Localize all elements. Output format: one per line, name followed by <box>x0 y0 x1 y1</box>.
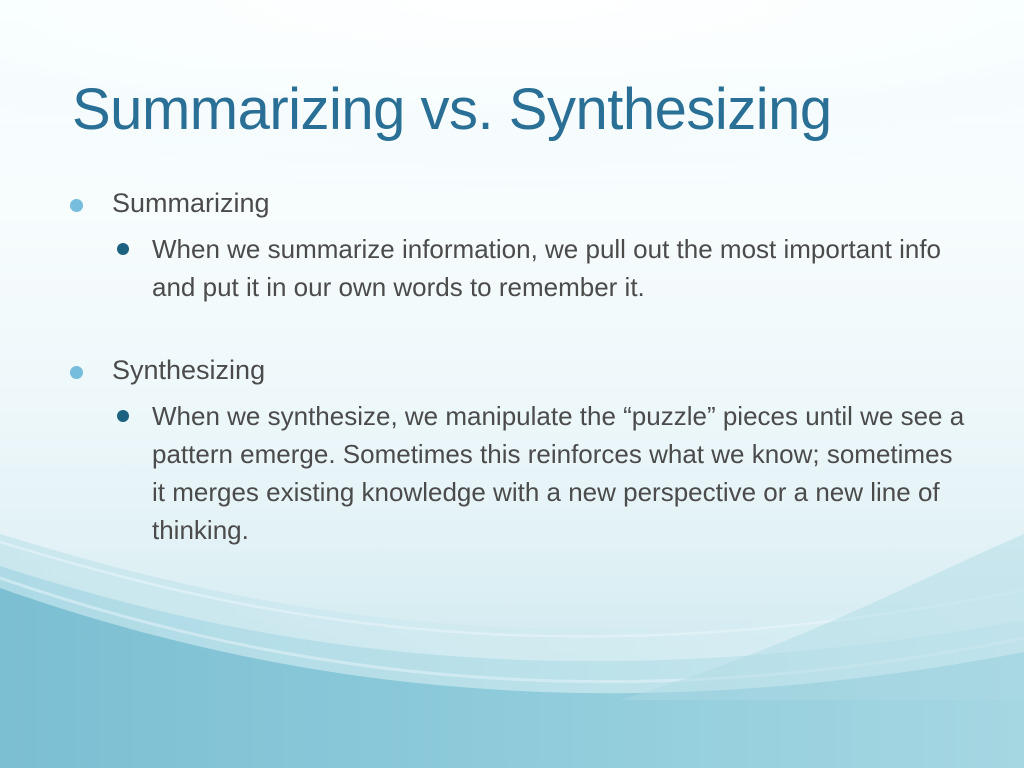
bullet-level2-label: When we synthesize, we manipulate the “p… <box>152 401 964 546</box>
filled-circle-bullet-icon <box>117 243 129 255</box>
presentation-slide: Summarizing vs. Synthesizing Summarizing… <box>0 0 1024 768</box>
filled-circle-bullet-icon <box>70 199 83 212</box>
bullet-group-spacer <box>62 307 972 353</box>
bullet-level2-synthesizing-detail: When we synthesize, we manipulate the “p… <box>62 397 972 550</box>
filled-circle-bullet-icon <box>70 366 83 379</box>
bullet-level1-label: Synthesizing <box>112 355 265 385</box>
bullet-level1-summarizing: Summarizing <box>62 186 972 221</box>
bullet-level1-synthesizing: Synthesizing <box>62 353 972 388</box>
bullet-level2-summarizing-detail: When we summarize information, we pull o… <box>62 230 972 306</box>
bullet-level1-label: Summarizing <box>112 188 270 218</box>
page-title: Summarizing vs. Synthesizing <box>72 78 972 143</box>
slide-content: Summarizing vs. Synthesizing Summarizing… <box>0 0 1024 768</box>
filled-circle-bullet-icon <box>117 410 129 422</box>
bullet-level2-label: When we summarize information, we pull o… <box>152 234 941 302</box>
bullet-list: Summarizing When we summarize informatio… <box>62 186 972 550</box>
